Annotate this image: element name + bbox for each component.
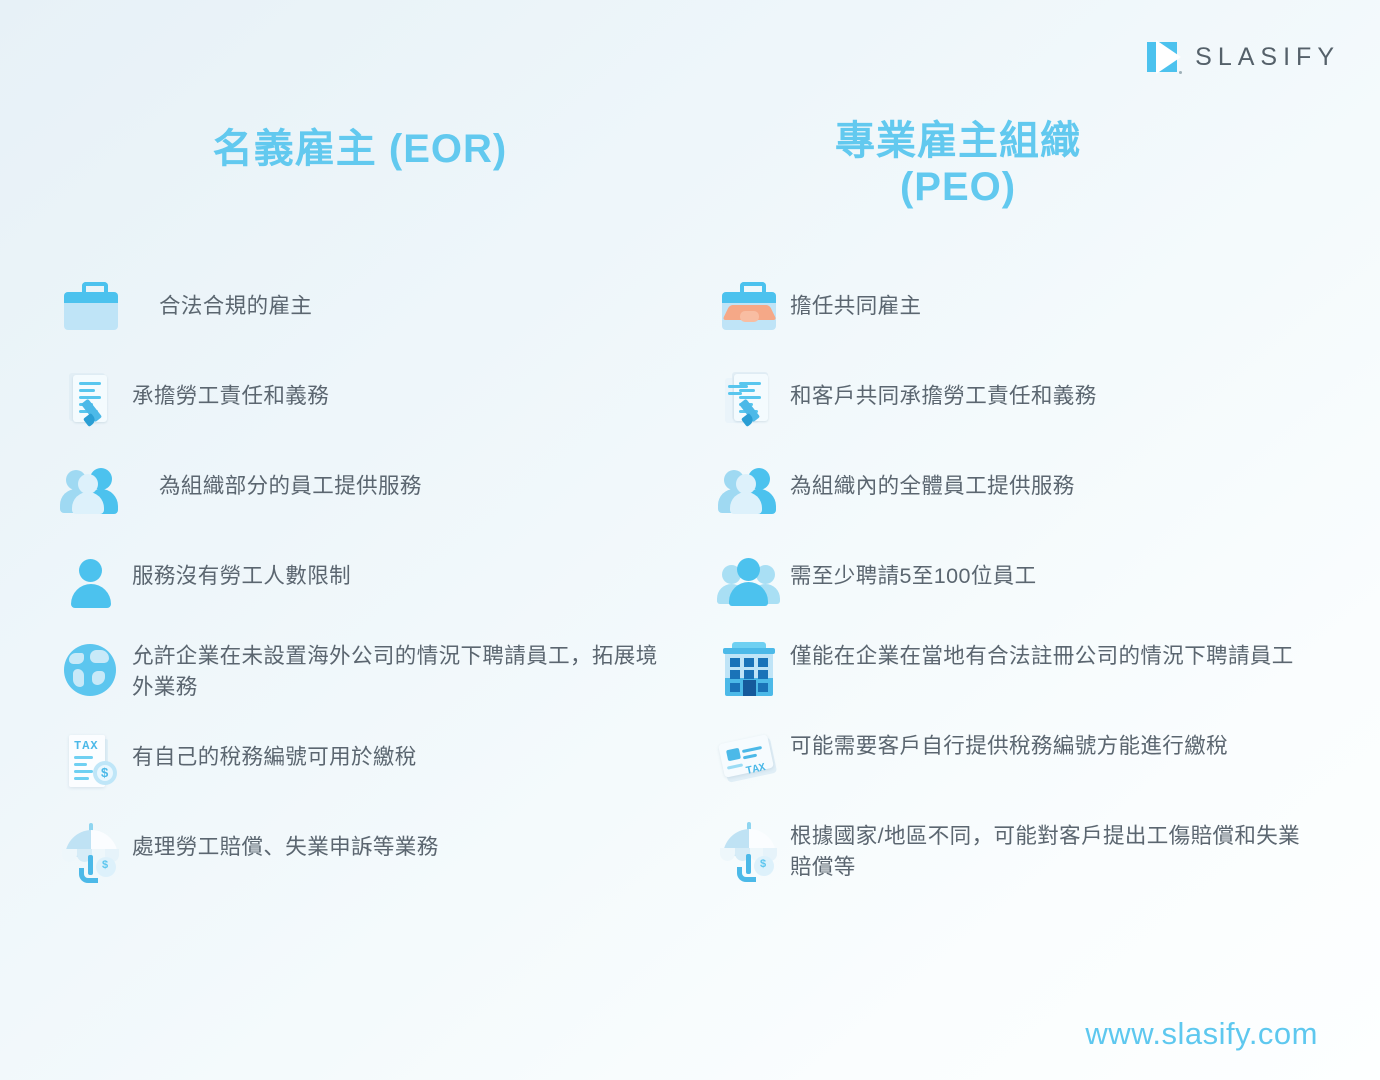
column-eor-items: 合法合規的雇主 承擔勞工責任和義務 bbox=[60, 278, 660, 909]
group-people-icon bbox=[718, 548, 780, 610]
brand-name: SLASIFY bbox=[1195, 43, 1340, 72]
list-item-label: 合法合規的雇主 bbox=[132, 278, 312, 322]
brand-logo: SLASIFY bbox=[1147, 40, 1340, 74]
list-item-label: 擔任共同雇主 bbox=[790, 278, 921, 322]
column-peo-title-line1: 專業雇主組織 bbox=[718, 118, 1198, 164]
single-person-icon bbox=[60, 548, 122, 610]
list-item: 承擔勞工責任和義務 bbox=[60, 368, 660, 431]
list-item-label: 允許企業在未設置海外公司的情況下聘請員工，拓展境外業務 bbox=[132, 638, 660, 702]
list-item: TAX 可能需要客戶自行提供稅務編號方能進行繳稅 bbox=[718, 728, 1318, 791]
list-item-label: 可能需要客戶自行提供稅務編號方能進行繳稅 bbox=[790, 728, 1228, 762]
list-item: 和客戶共同承擔勞工責任和義務 bbox=[718, 368, 1318, 431]
list-item: 擔任共同雇主 bbox=[718, 278, 1318, 341]
column-peo-title: 專業雇主組織 (PEO) bbox=[718, 118, 1198, 211]
list-item-label: 根據國家/地區不同，可能對客戶提出工傷賠償和失業賠償等 bbox=[790, 818, 1318, 882]
document-pen-icon bbox=[60, 368, 122, 430]
list-item: 為組織內的全體員工提供服務 bbox=[718, 458, 1318, 521]
briefcase-handshake-icon bbox=[718, 278, 780, 340]
list-item-label: 和客戶共同承擔勞工責任和義務 bbox=[790, 368, 1097, 412]
list-item: $ 根據國家/地區不同，可能對客戶提出工傷賠償和失業賠償等 bbox=[718, 818, 1318, 882]
list-item: 為組織部分的員工提供服務 bbox=[60, 458, 660, 521]
tax-receipt-icon: TAX $ bbox=[60, 729, 122, 791]
umbrella-money-icon: $ bbox=[718, 818, 780, 880]
briefcase-icon bbox=[60, 278, 122, 340]
column-peo-items: 擔任共同雇主 和客戶共同承擔勞工責任和義務 bbox=[718, 278, 1318, 909]
list-item: 僅能在企業在當地有合法註冊公司的情況下聘請員工 bbox=[718, 638, 1318, 701]
list-item: TAX $ 有自己的稅務編號可用於繳稅 bbox=[60, 729, 660, 792]
list-item-label: 僅能在企業在當地有合法註冊公司的情況下聘請員工 bbox=[790, 638, 1294, 672]
two-people-icon bbox=[718, 458, 780, 520]
list-item: 允許企業在未設置海外公司的情況下聘請員工，拓展境外業務 bbox=[60, 638, 660, 702]
list-item: $ 處理勞工賠償、失業申訴等業務 bbox=[60, 819, 660, 882]
slasify-logo-icon bbox=[1147, 40, 1181, 74]
list-item-label: 需至少聘請5至100位員工 bbox=[790, 548, 1037, 592]
list-item: 合法合規的雇主 bbox=[60, 278, 660, 341]
office-building-icon bbox=[718, 638, 780, 700]
tax-card-icon: TAX bbox=[718, 728, 780, 790]
column-peo-title-line2: (PEO) bbox=[718, 164, 1198, 210]
column-eor-title: 名義雇主 (EOR) bbox=[60, 126, 660, 172]
umbrella-money-icon: $ bbox=[60, 819, 122, 881]
list-item-label: 承擔勞工責任和義務 bbox=[132, 368, 329, 412]
documents-pen-icon bbox=[718, 368, 780, 430]
list-item: 服務沒有勞工人數限制 bbox=[60, 548, 660, 611]
list-item-label: 為組織內的全體員工提供服務 bbox=[790, 458, 1075, 502]
list-item-label: 有自己的稅務編號可用於繳稅 bbox=[132, 729, 417, 773]
two-people-icon bbox=[60, 458, 122, 520]
list-item: 需至少聘請5至100位員工 bbox=[718, 548, 1318, 611]
list-item-label: 服務沒有勞工人數限制 bbox=[132, 548, 351, 592]
globe-icon bbox=[60, 638, 122, 700]
list-item-label: 為組織部分的員工提供服務 bbox=[132, 458, 422, 502]
list-item-label: 處理勞工賠償、失業申訴等業務 bbox=[132, 819, 439, 863]
slide-root: SLASIFY 名義雇主 (EOR) 合法合規的雇主 bbox=[0, 0, 1380, 1080]
footer-url[interactable]: www.slasify.com bbox=[1085, 1016, 1318, 1052]
